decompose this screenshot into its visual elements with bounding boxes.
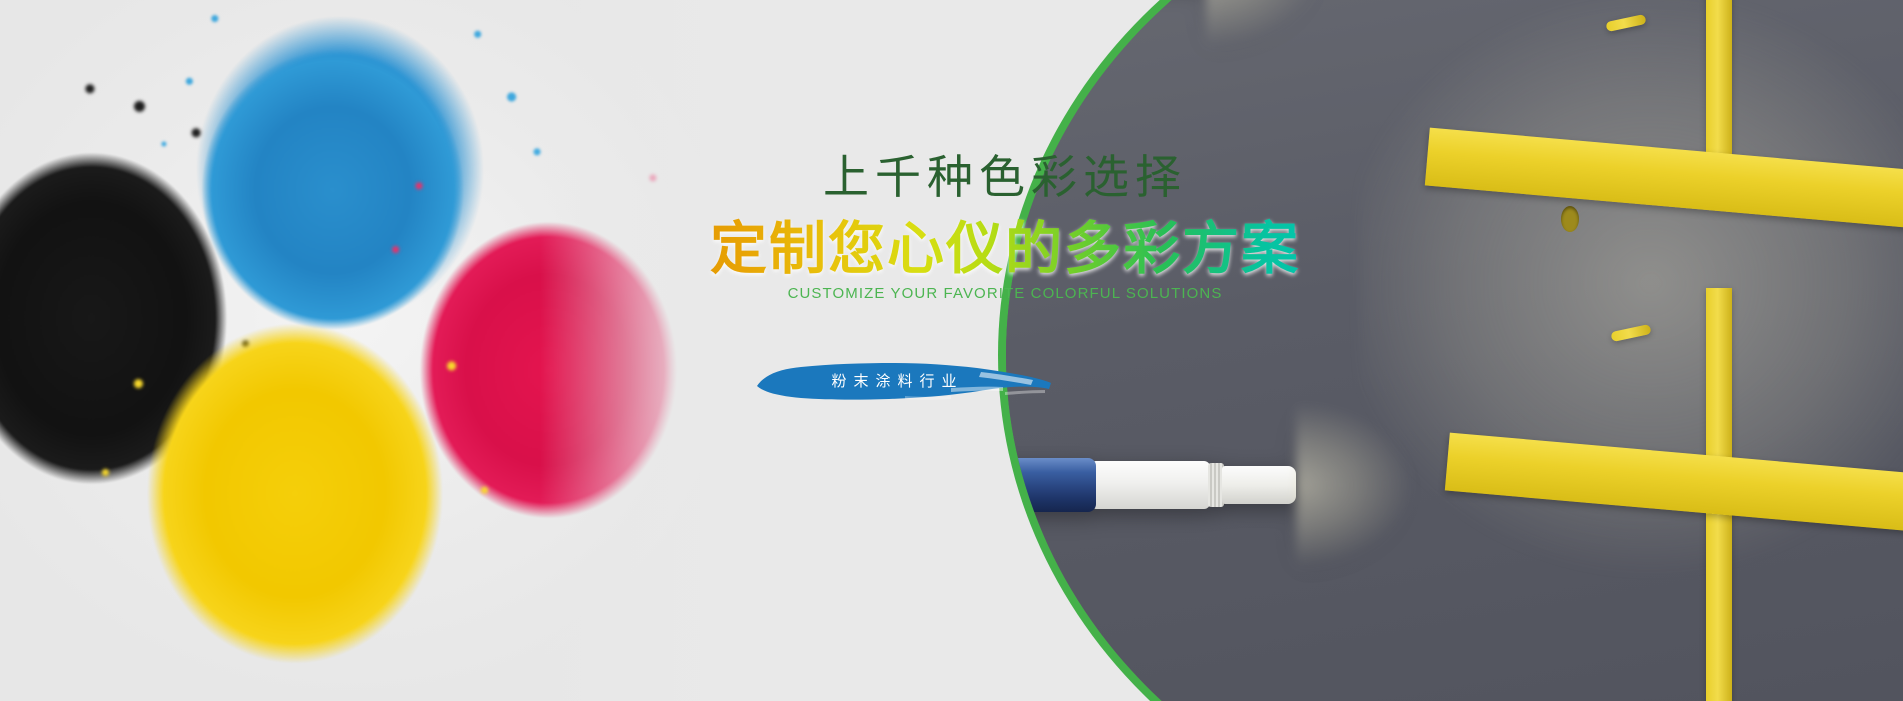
- industry-badge: 粉末涂料行业: [755, 352, 1055, 408]
- promo-banner: Encore 上千种色彩选择 定制您心仪的多彩方案 CUS: [0, 0, 1903, 701]
- yellow-powder-pile: [115, 300, 475, 701]
- headline-primary: 上千种色彩选择: [645, 152, 1365, 203]
- industry-badge-label: 粉末涂料行业: [799, 352, 989, 408]
- rack-hole: [1561, 206, 1579, 232]
- banner-copy: 上千种色彩选择 定制您心仪的多彩方案 CUSTOMIZE YOUR FAVORI…: [645, 0, 1365, 701]
- subtitle-english: CUSTOMIZE YOUR FAVORITE COLORFUL SOLUTIO…: [645, 285, 1365, 302]
- headline-secondary: 定制您心仪的多彩方案: [645, 218, 1365, 281]
- powder-photo: [0, 0, 700, 701]
